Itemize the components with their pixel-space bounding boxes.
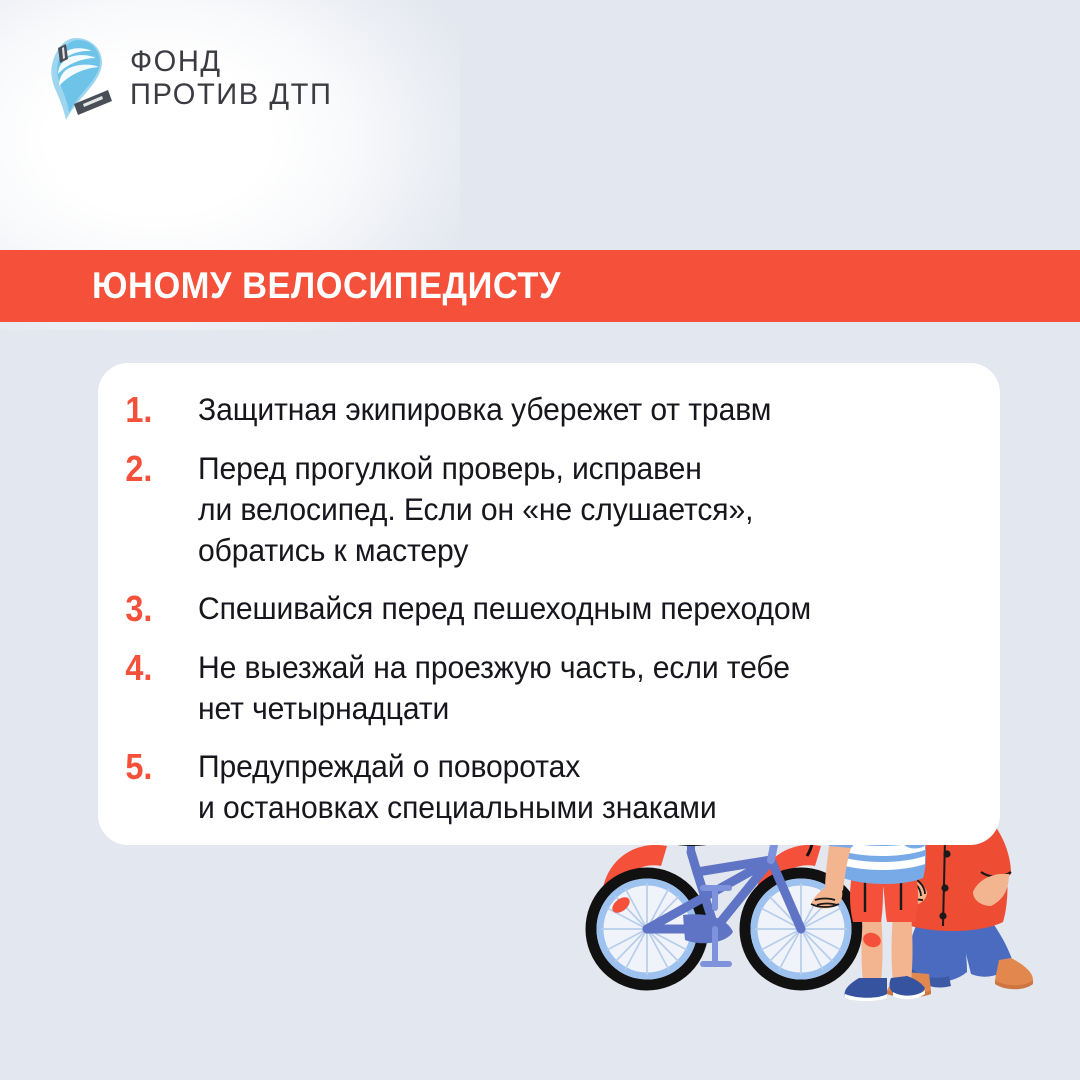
list-item: 5. Предупреждай о поворотах и остановках… bbox=[120, 746, 982, 828]
brand-line-2: ПРОТИВ ДТП bbox=[130, 80, 332, 111]
rule-number: 2. bbox=[120, 448, 190, 490]
rule-number: 1. bbox=[120, 389, 190, 431]
rule-text: Предупреждай о поворотах и остановках сп… bbox=[198, 746, 947, 828]
ribbon-road-logo-icon bbox=[44, 34, 116, 122]
list-item: 3. Спешивайся перед пешеходным переходом bbox=[120, 588, 982, 630]
rule-text: Перед прогулкой проверь, исправен ли вел… bbox=[198, 448, 947, 571]
brand-wordmark: ФОНД ПРОТИВ ДТП bbox=[130, 45, 339, 111]
rule-text: Защитная экипировка убережет от травм bbox=[198, 389, 947, 430]
rules-list: 1. Защитная экипировка убережет от травм… bbox=[120, 389, 982, 828]
list-item: 2. Перед прогулкой проверь, исправен ли … bbox=[120, 448, 982, 571]
rule-number: 5. bbox=[120, 746, 190, 788]
rule-text: Не выезжай на проезжую часть, если тебе … bbox=[198, 647, 947, 729]
brand-logo[interactable]: ФОНД ПРОТИВ ДТП bbox=[44, 34, 339, 122]
poster-root: ФОНД ПРОТИВ ДТП ЮНОМУ ВЕЛОСИПЕДИСТУ 1. З… bbox=[0, 0, 1080, 1080]
section-title-band: ЮНОМУ ВЕЛОСИПЕДИСТУ bbox=[0, 250, 1080, 322]
list-item: 4. Не выезжай на проезжую часть, если те… bbox=[120, 647, 982, 729]
brand-line-1: ФОНД bbox=[130, 47, 332, 78]
list-item: 1. Защитная экипировка убережет от травм bbox=[120, 389, 982, 431]
rule-number: 4. bbox=[120, 647, 190, 689]
rule-text: Спешивайся перед пешеходным переходом bbox=[198, 588, 947, 629]
rule-number: 3. bbox=[120, 588, 190, 630]
rules-card: 1. Защитная экипировка убережет от травм… bbox=[98, 363, 1000, 845]
section-title: ЮНОМУ ВЕЛОСИПЕДИСТУ bbox=[92, 265, 561, 307]
